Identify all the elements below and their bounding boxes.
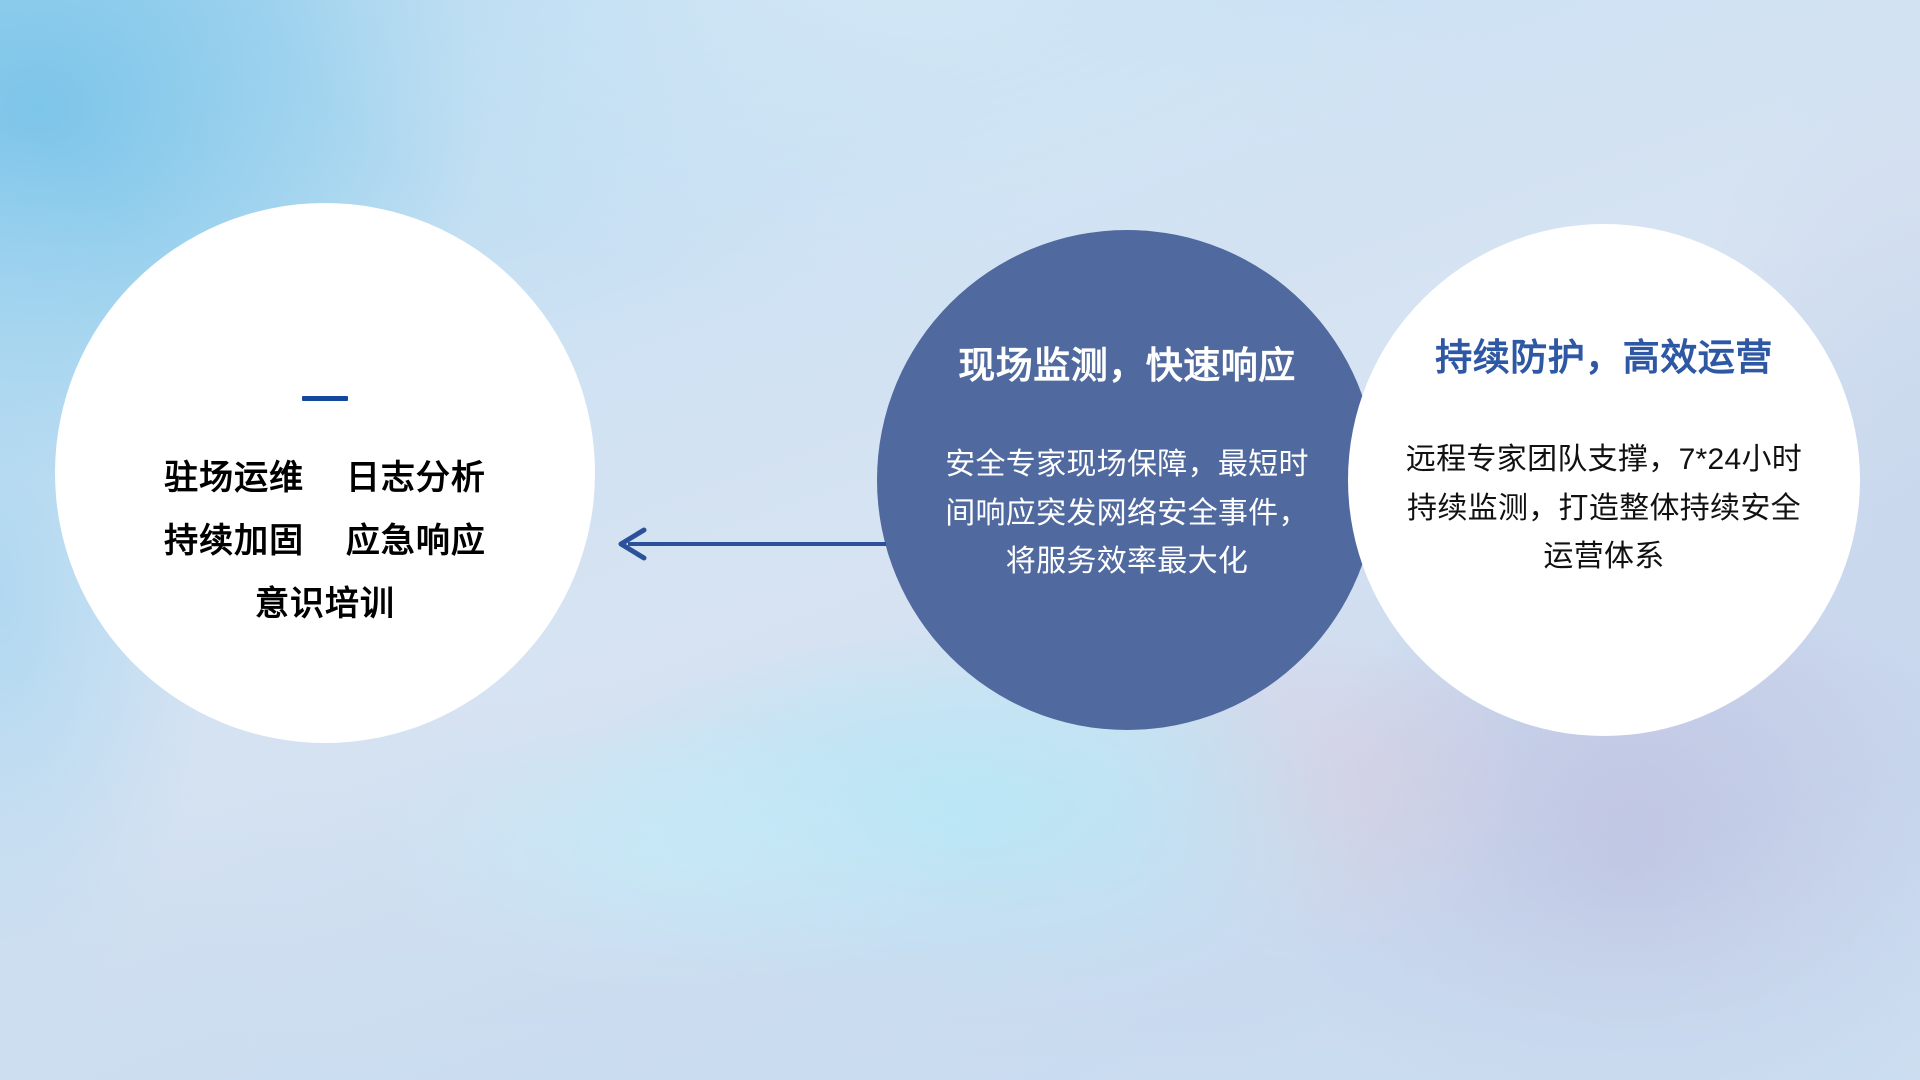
left-keywords-circle: 驻场运维 日志分析 持续加固 应急响应 意识培训 xyxy=(55,203,595,743)
arrow-connector xyxy=(604,524,890,564)
divider-line xyxy=(302,396,348,401)
right-circle-title: 持续防护，高效运营 xyxy=(1435,327,1773,381)
right-remote-circle: 持续防护，高效运营 远程专家团队支撑，7*24小时持续监测，打造整体持续安全运营… xyxy=(1348,224,1860,736)
middle-circle-body: 安全专家现场保障，最短时间响应突发网络安全事件，将服务效率最大化 xyxy=(937,441,1317,587)
left-keywords-list: 驻场运维 日志分析 持续加固 应急响应 意识培训 xyxy=(164,447,486,636)
middle-circle-title: 现场监测，快速响应 xyxy=(958,335,1296,389)
right-circle-body: 远程专家团队支撑，7*24小时持续监测，打造整体持续安全运营体系 xyxy=(1394,436,1814,582)
list-item: 意识培训 xyxy=(164,573,486,636)
list-item: 持续加固 应急响应 xyxy=(164,510,486,573)
middle-onsite-circle: 现场监测，快速响应 安全专家现场保障，最短时间响应突发网络安全事件，将服务效率最… xyxy=(877,230,1377,730)
arrow-left-icon xyxy=(604,524,890,564)
list-item: 驻场运维 日志分析 xyxy=(164,447,486,510)
